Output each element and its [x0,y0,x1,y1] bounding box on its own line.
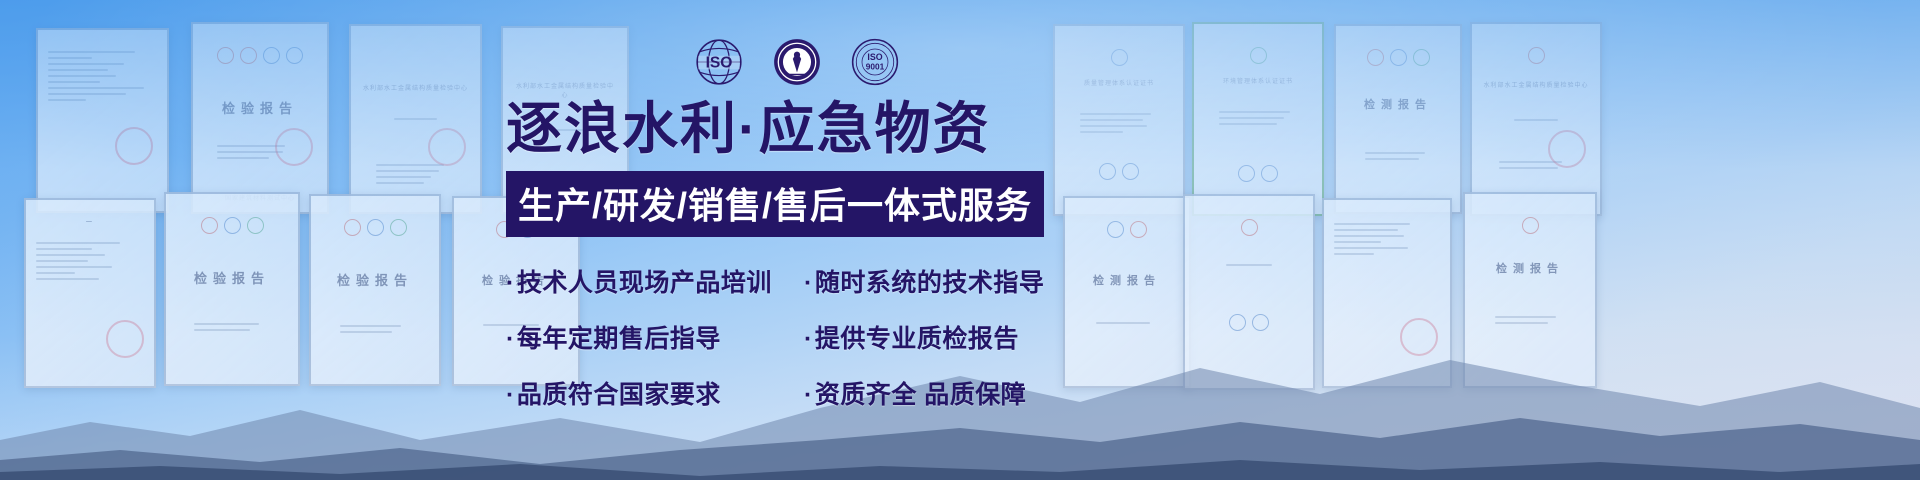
certificate-title: 检验报告 [203,98,317,117]
feature-label: 随时系统的技术指导 [815,269,1045,297]
feature-item: ·随时系统的技术指导 [804,263,1066,299]
bullet-icon: · [804,269,813,297]
feature-label: 品质符合国家要求 [517,381,721,409]
stamp-icon [428,128,466,166]
iso-9001-badge: ISO 9001 [849,36,901,88]
certificate-title: 检验报告 [176,268,288,287]
certificate-thumbnail: 水利部水工金属结构质量检验中心 [349,24,482,214]
quality-seal-badge [771,36,823,88]
stamp-icon [115,127,153,165]
stamp-icon [275,128,313,166]
certificate-thumbnail: 水利部水工金属结构质量检验中心 [1470,22,1602,216]
bullet-icon: · [804,381,813,409]
certificate-title: 检测报告 [1475,260,1585,276]
certificate-subtitle: 水利部水工金属结构质量检验中心 [1482,80,1590,89]
banner-copy: 逐浪水利·应急物资 生产/研发/销售/售后一体式服务 ·技术人员现场产品培训 ·… [506,100,1066,411]
certificate-logos [203,47,317,64]
stamp-icon [1548,130,1586,168]
bullet-icon: · [506,269,515,297]
promo-banner: 检验报告 国家建筑材料测试中心 水利部水工金属结构质量检验中心 [0,0,1920,480]
certificate-thumbnail [36,28,169,213]
feature-item: ·提供专业质检报告 [804,319,1066,355]
certificate-thumbnail: 环境管理体系认证证书 [1192,22,1324,216]
feature-list: ·技术人员现场产品培训 ·随时系统的技术指导 ·每年定期售后指导 ·提供专业质检… [506,263,1066,411]
feature-label: 提供专业质检报告 [815,325,1019,353]
feature-item: ·品质符合国家要求 [506,375,794,411]
certification-badges: ISO ISO 9001 [693,36,901,88]
bullet-icon: · [506,325,515,353]
certificate-title: 检测报告 [1075,272,1179,288]
iso-badge-label: ISO [706,55,733,72]
svg-text:ISO: ISO [867,52,882,62]
svg-text:9001: 9001 [866,61,885,71]
feature-item: ·资质齐全 品质保障 [804,375,1066,411]
certificate-subtitle: 水利部水工金属结构质量检验中心 [361,83,470,92]
page-title: 逐浪水利·应急物资 [506,100,1066,159]
subtitle-bar: 生产/研发/销售/售后一体式服务 [506,171,1044,237]
certificate-title: 检测报告 [1346,96,1450,112]
bullet-icon: · [506,381,515,409]
certificate-subtitle: 环境管理体系认证证书 [1204,76,1312,85]
certificate-thumbnail: 质量管理体系认证证书 [1053,24,1185,216]
certificate-thumbnail: 检测报告 [1334,24,1462,214]
certificate-title: 检验报告 [321,270,429,289]
iso-globe-badge: ISO [693,36,745,88]
feature-label: 每年定期售后指导 [517,325,721,353]
feature-item: ·技术人员现场产品培训 [506,263,794,299]
bullet-icon: · [804,325,813,353]
feature-label: 技术人员现场产品培训 [517,269,772,297]
feature-label: 资质齐全 品质保障 [815,381,1026,409]
certificate-thumbnail: 检验报告 国家建筑材料测试中心 [191,22,329,214]
feature-item: ·每年定期售后指导 [506,319,794,355]
certificate-subtitle: 质量管理体系认证证书 [1065,78,1173,87]
